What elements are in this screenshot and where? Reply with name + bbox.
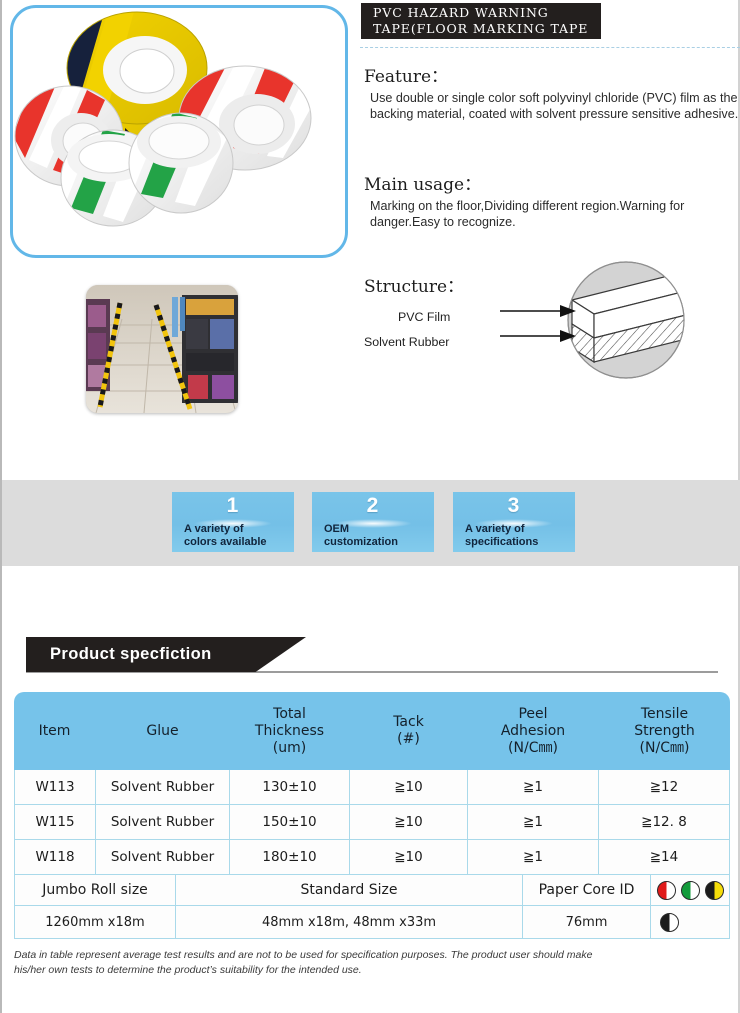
feature-card-3-caption-line1: A variety of bbox=[465, 523, 525, 535]
table-row: W113 Solvent Rubber 130±10 ≧10 ≧1 ≧12 bbox=[14, 770, 730, 805]
swatch-black-white bbox=[660, 913, 679, 932]
feature-heading: Feature： bbox=[364, 62, 740, 87]
spec-header-title: Product specfiction bbox=[26, 637, 306, 664]
color-swatches-row-1 bbox=[651, 874, 730, 906]
table-row: W115 Solvent Rubber 150±10 ≧10 ≧1 ≧12. 8 bbox=[14, 805, 730, 840]
feature-card-2[interactable]: 2 OEM customization bbox=[312, 492, 434, 552]
spec-col-tack-l2: (#) bbox=[397, 731, 420, 747]
feature-text: Use double or single color soft polyviny… bbox=[364, 90, 740, 123]
size-col-jumbo: Jumbo Roll size bbox=[14, 874, 176, 906]
cell-thickness: 130±10 bbox=[230, 770, 350, 805]
size-value-core: 76mm bbox=[523, 906, 651, 939]
spec-col-glue-label: Glue bbox=[146, 723, 178, 739]
spec-col-tack: Tack (#) bbox=[350, 692, 468, 770]
feature-card-3-number: 3 bbox=[465, 494, 563, 517]
structure-diagram-svg bbox=[494, 258, 740, 388]
spec-col-tack-l1: Tack bbox=[393, 714, 424, 730]
structure-diagram bbox=[494, 258, 740, 388]
leader-lines bbox=[500, 311, 560, 336]
feature-card-2-caption: OEM customization bbox=[324, 523, 434, 548]
cell-tack: ≧10 bbox=[350, 840, 468, 875]
cell-tensile: ≧12. 8 bbox=[599, 805, 730, 840]
structure-heading: Structure： bbox=[364, 272, 464, 297]
cell-glue: Solvent Rubber bbox=[96, 805, 230, 840]
cell-tensile: ≧12 bbox=[599, 770, 730, 805]
spec-col-item-label: Item bbox=[39, 723, 71, 739]
product-info-column: PVC HAZARD WARNING TAPE(FLOOR MARKING TA… bbox=[358, 0, 740, 478]
cell-item: W118 bbox=[14, 840, 96, 875]
swatch-row-bottom bbox=[651, 913, 729, 932]
cell-tack: ≧10 bbox=[350, 805, 468, 840]
product-title-bar: PVC HAZARD WARNING TAPE(FLOOR MARKING TA… bbox=[361, 3, 601, 39]
table-row: W118 Solvent Rubber 180±10 ≧10 ≧1 ≧14 bbox=[14, 840, 730, 875]
feature-card-3[interactable]: 3 A variety of specifications bbox=[453, 492, 575, 552]
tape-rolls-illustration bbox=[13, 8, 345, 255]
feature-card-3-caption-line2: specifications bbox=[465, 536, 538, 548]
feature-card-1-caption-line1: A variety of bbox=[184, 523, 244, 535]
size-value-standard: 48mm x18m, 48mm x33m bbox=[176, 906, 523, 939]
spec-col-tensile-l2: Strength bbox=[634, 723, 695, 739]
spec-col-item: Item bbox=[14, 692, 96, 770]
size-table: Jumbo Roll size Standard Size Paper Core… bbox=[14, 874, 730, 939]
size-col-core: Paper Core ID bbox=[523, 874, 651, 906]
feature-block: Feature： Use double or single color soft… bbox=[364, 62, 740, 123]
swatch-row-top bbox=[651, 881, 729, 900]
cell-item: W113 bbox=[14, 770, 96, 805]
feature-card-2-number: 2 bbox=[324, 494, 422, 517]
swatch-black-yellow bbox=[705, 881, 724, 900]
top-section: PVC HAZARD WARNING TAPE(FLOOR MARKING TA… bbox=[2, 0, 740, 478]
feature-card-1-caption: A variety of colors available bbox=[184, 523, 294, 548]
size-table-header-row: Jumbo Roll size Standard Size Paper Core… bbox=[14, 874, 730, 906]
cell-glue: Solvent Rubber bbox=[96, 770, 230, 805]
usage-heading: Main usage： bbox=[364, 170, 740, 195]
cell-tensile: ≧14 bbox=[599, 840, 730, 875]
cell-thickness: 150±10 bbox=[230, 805, 350, 840]
swatch-green-white bbox=[681, 881, 700, 900]
cell-glue: Solvent Rubber bbox=[96, 840, 230, 875]
cell-peel: ≧1 bbox=[468, 840, 599, 875]
label-solvent-rubber: Solvent Rubber bbox=[364, 335, 449, 349]
spec-col-peel-l3: (N/C㎜) bbox=[508, 740, 558, 756]
hero-product-image bbox=[10, 5, 348, 258]
usage-block: Main usage： Marking on the floor,Dividin… bbox=[364, 170, 740, 231]
cell-peel: ≧1 bbox=[468, 805, 599, 840]
spec-col-thickness-l1: Total bbox=[273, 706, 306, 722]
product-title-line1: PVC HAZARD WARNING bbox=[373, 5, 601, 21]
floor-application-photo bbox=[86, 285, 238, 413]
feature-card-2-caption-line1: OEM bbox=[324, 523, 349, 535]
spec-header-banner: Product specfiction bbox=[26, 637, 306, 672]
size-col-standard: Standard Size bbox=[176, 874, 523, 906]
spec-col-peel: Peel Adhesion (N/C㎜) bbox=[468, 692, 599, 770]
spec-col-peel-l2: Adhesion bbox=[501, 723, 565, 739]
usage-text: Marking on the floor,Dividing different … bbox=[364, 198, 740, 231]
product-title-line2: TAPE(FLOOR MARKING TAPE bbox=[373, 21, 601, 37]
feature-card-3-caption: A variety of specifications bbox=[465, 523, 575, 548]
spec-col-thickness: Total Thickness (um) bbox=[230, 692, 350, 770]
feature-card-1[interactable]: 1 A variety of colors available bbox=[172, 492, 294, 552]
feature-highlight-band: 1 A variety of colors available 2 OEM cu… bbox=[2, 480, 740, 566]
spec-col-tensile-l1: Tensile bbox=[641, 706, 688, 722]
feature-card-1-caption-line2: colors available bbox=[184, 536, 267, 548]
dashed-divider bbox=[360, 47, 740, 48]
spec-section-header: Product specfiction bbox=[2, 637, 740, 679]
cell-item: W115 bbox=[14, 805, 96, 840]
tape-rolls-svg bbox=[13, 8, 345, 255]
swatch-red-white bbox=[657, 881, 676, 900]
spec-col-thickness-l3: (um) bbox=[273, 740, 306, 756]
floor-photo-svg bbox=[86, 285, 238, 413]
spec-col-thickness-l2: Thickness bbox=[255, 723, 324, 739]
specification-table: Item Glue Total Thickness (um) Tack (#) … bbox=[14, 692, 730, 875]
structure-block: Structure： bbox=[364, 272, 464, 297]
color-swatches-row-2 bbox=[651, 906, 730, 939]
cell-thickness: 180±10 bbox=[230, 840, 350, 875]
feature-card-2-caption-line2: customization bbox=[324, 536, 398, 548]
spec-col-peel-l1: Peel bbox=[518, 706, 547, 722]
label-pvc-film: PVC Film bbox=[398, 310, 450, 324]
disclaimer-note: Data in table represent average test res… bbox=[14, 948, 624, 977]
spec-col-glue: Glue bbox=[96, 692, 230, 770]
size-value-jumbo: 1260mm x18m bbox=[14, 906, 176, 939]
product-spec-sheet: PVC HAZARD WARNING TAPE(FLOOR MARKING TA… bbox=[0, 0, 740, 1013]
spec-col-tensile: Tensile Strength (N/C㎜) bbox=[599, 692, 730, 770]
cell-peel: ≧1 bbox=[468, 770, 599, 805]
size-table-value-row: 1260mm x18m 48mm x18m, 48mm x33m 76mm bbox=[14, 906, 730, 939]
spec-col-tensile-l3: (N/C㎜) bbox=[640, 740, 690, 756]
feature-card-1-number: 1 bbox=[184, 494, 282, 517]
cell-tack: ≧10 bbox=[350, 770, 468, 805]
spec-table-header-row: Item Glue Total Thickness (um) Tack (#) … bbox=[14, 692, 730, 770]
